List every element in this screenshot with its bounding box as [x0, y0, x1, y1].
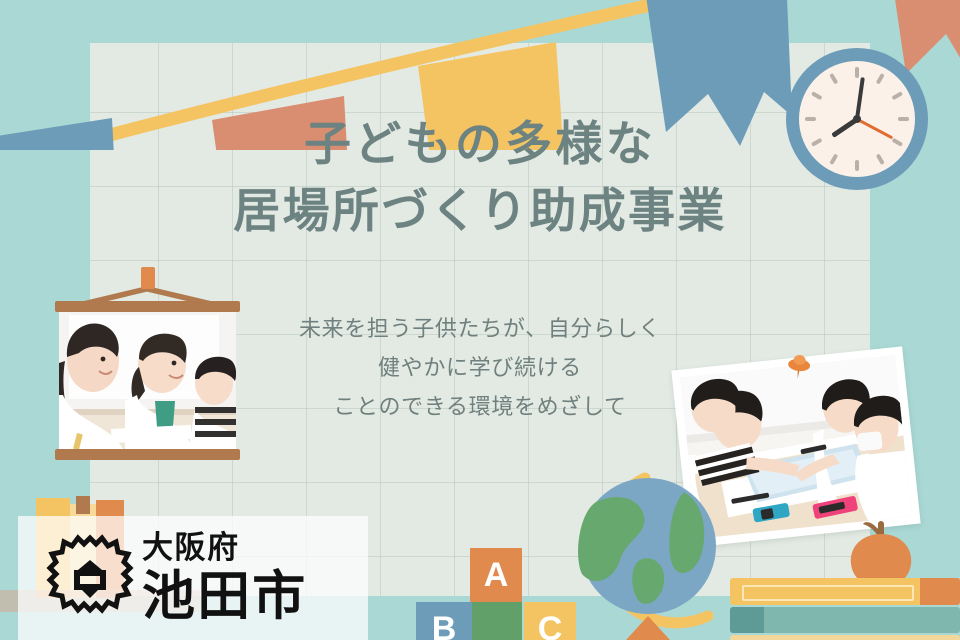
city-name: 池田市 [142, 570, 307, 623]
book-cream [730, 635, 960, 640]
title-line-2: 居場所づくり助成事業 [120, 179, 840, 246]
alphabet-blocks: A B C [404, 548, 584, 640]
book-yellow [730, 578, 960, 605]
prefecture-name: 大阪府 [142, 533, 307, 564]
clock-tick [892, 91, 904, 100]
clock-tick [876, 154, 885, 166]
block-b: B [416, 602, 472, 640]
block-green [472, 602, 522, 640]
classroom-students-photo [55, 265, 240, 460]
block-a: A [470, 548, 522, 602]
photo-bottom-bar [55, 449, 240, 460]
bunting-flag-1 [0, 118, 118, 150]
clock-tick [811, 91, 823, 100]
city-logo-text: 大阪府 池田市 [142, 533, 307, 623]
photo-top-bar [55, 301, 240, 312]
pushpin-icon [785, 351, 814, 382]
clock-tick [898, 117, 909, 121]
page-title: 子どもの多様な 居場所づくり助成事業 [120, 112, 840, 245]
title-line-1: 子どもの多様な [120, 112, 840, 179]
clock-second-hand [856, 118, 892, 139]
subtitle-line-1: 未来を担う子供たちが、自分らしく [170, 310, 790, 349]
clock-minute-hand [855, 77, 865, 119]
clock-tick [876, 73, 885, 85]
book-stack [730, 578, 960, 640]
clock-tick [892, 138, 904, 147]
clock-tick [855, 160, 859, 171]
apple-icon [845, 520, 917, 586]
city-logo: 大阪府 池田市 [44, 528, 354, 628]
clock-tick [855, 67, 859, 78]
clock-tick [829, 73, 838, 85]
ikeda-city-crest-icon [44, 532, 136, 624]
clock-center-pin [853, 115, 861, 123]
book-teal [730, 607, 960, 633]
photo-left-image [59, 309, 236, 449]
poster-canvas: 子どもの多様な 居場所づくり助成事業 未来を担う子供たちが、自分らしく 健やかに… [0, 0, 960, 640]
block-c: C [524, 602, 576, 640]
orange-tape-icon [141, 267, 155, 289]
